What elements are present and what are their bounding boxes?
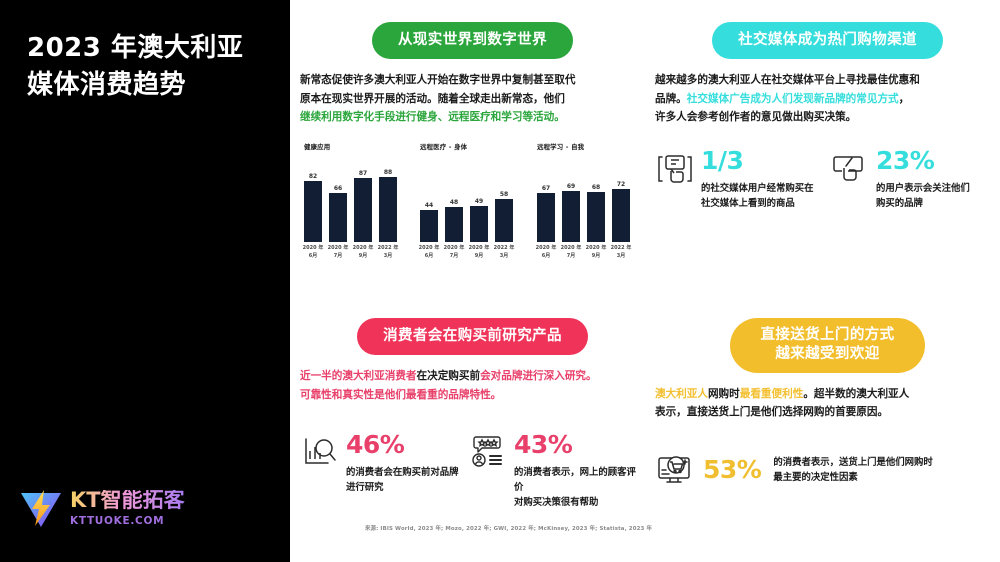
chart-bars: 82668788 bbox=[304, 154, 408, 242]
stat-value: 43% bbox=[514, 432, 638, 457]
stat-caption-line2: 最主要的决定性因素 bbox=[773, 472, 857, 483]
chart-group-telelearning: 远程学习 - 自我 67696872 2020 年6月2020 年7月2020 … bbox=[537, 142, 641, 264]
bar bbox=[420, 210, 438, 243]
chart-ticks: 2020 年6月2020 年7月2020 年9月2022 年3月 bbox=[304, 245, 408, 267]
section-research: 消费者会在购买前研究产品 近一半的澳大利亚消费者在决定购买前会对品牌进行深入研究… bbox=[300, 318, 645, 511]
infographic-page: 2023 年澳大利亚媒体消费趋势 bbox=[0, 0, 1000, 562]
research-body-tail: 会对品牌进行深入研究。 bbox=[480, 370, 597, 382]
chart-group-telehealth: 远程医疗 - 身体 44484958 2020 年6月2020 年7月2020 … bbox=[420, 142, 524, 264]
bar bbox=[304, 181, 322, 242]
delivery-body-highlight-b: 最看重便利性 bbox=[740, 388, 804, 400]
click-card-icon bbox=[830, 149, 870, 189]
delivery-stats: 53% 的消费者表示，送货上门是他们网购时 最主要的决定性因素 bbox=[655, 449, 1000, 490]
research-body-line2: 可靠性和真实性是他们最看重的品牌特性。 bbox=[300, 389, 501, 401]
stat-delivery-1: 53% 的消费者表示，送货上门是他们网购时 最主要的决定性因素 bbox=[655, 449, 941, 490]
pill-digital: 从现实世界到数字世界 bbox=[372, 22, 573, 59]
chart-magnifier-icon bbox=[300, 433, 340, 473]
stat-caption: 的用户表示会关注他们 购买的品牌 bbox=[876, 181, 970, 211]
stat-value: 46% bbox=[346, 432, 459, 457]
brand-logo: KT智能拓客 KTTUOKE.COM bbox=[18, 487, 185, 529]
bar-column: 66 bbox=[329, 185, 347, 242]
bar bbox=[612, 189, 630, 242]
pill-delivery-line1: 直接送货上门的方式 bbox=[760, 327, 894, 343]
x-axis-tick: 2020 年6月 bbox=[534, 245, 558, 261]
bar-value-label: 48 bbox=[445, 199, 463, 206]
stat-caption-line2: 社交媒体上看到的商品 bbox=[701, 198, 795, 209]
social-body-line1: 越来越多的澳大利亚人在社交媒体平台上寻找最佳优惠和 bbox=[655, 74, 920, 86]
section-delivery: 直接送货上门的方式 越来越受到欢迎 澳大利亚人网购时最看重便利性。超半数的澳大利… bbox=[655, 318, 1000, 490]
bar bbox=[470, 206, 488, 242]
delivery-body-tail: 。超半数的澳大利亚人 bbox=[803, 388, 909, 400]
bar-value-label: 66 bbox=[329, 185, 347, 192]
bar-value-label: 72 bbox=[612, 181, 630, 188]
pill-research: 消费者会在购买前研究产品 bbox=[357, 318, 588, 355]
bar-column: 44 bbox=[420, 202, 438, 243]
mobile-tap-icon bbox=[655, 149, 695, 189]
bar-value-label: 49 bbox=[470, 198, 488, 205]
monitor-cart-icon bbox=[655, 450, 695, 490]
delivery-body: 澳大利亚人网购时最看重便利性。超半数的澳大利亚人 表示，直接送货上门是他们选择网… bbox=[655, 385, 1000, 421]
stat-caption-line2: 进行研究 bbox=[346, 482, 384, 493]
x-axis-tick: 2020 年7月 bbox=[326, 245, 350, 261]
chart-bars: 67696872 bbox=[537, 154, 641, 242]
x-axis-tick: 2022 年3月 bbox=[609, 245, 633, 261]
chart-group-title: 远程医疗 - 身体 bbox=[420, 142, 524, 151]
bar bbox=[354, 178, 372, 242]
section-digital: 从现实世界到数字世界 新常态促使许多澳大利亚人开始在数字世界中复制甚至取代 原本… bbox=[300, 22, 645, 264]
bar-column: 48 bbox=[445, 199, 463, 243]
social-body: 越来越多的澳大利亚人在社交媒体平台上寻找最佳优惠和 品牌。社交媒体广告成为人们发… bbox=[655, 71, 1000, 126]
research-body-lead: 近一半的澳大利亚消费者 bbox=[300, 370, 417, 382]
stat-social-2: 23% 的用户表示会关注他们 购买的品牌 bbox=[830, 148, 995, 211]
bar bbox=[537, 193, 555, 243]
digital-body-line3: 继续利用数字化手段进行健身、远程医疗和学习等活动。 bbox=[300, 111, 565, 123]
bar-value-label: 82 bbox=[304, 173, 322, 180]
bar-value-label: 87 bbox=[354, 170, 372, 177]
bar-value-label: 88 bbox=[379, 169, 397, 176]
digital-body: 新常态促使许多澳大利亚人开始在数字世界中复制甚至取代 原本在现实世界开展的活动。… bbox=[300, 71, 645, 126]
bar bbox=[379, 177, 397, 242]
pill-delivery-line2: 越来越受到欢迎 bbox=[775, 346, 879, 362]
bar-column: 49 bbox=[470, 198, 488, 242]
chart-ticks: 2020 年6月2020 年7月2020 年9月2022 年3月 bbox=[537, 245, 641, 267]
bar-column: 72 bbox=[612, 181, 630, 242]
stat-caption-line1: 的消费者表示，网上的顾客评价 bbox=[514, 467, 636, 493]
stat-caption: 的消费者表示，送货上门是他们网购时 最主要的决定性因素 bbox=[773, 455, 941, 485]
x-axis-tick: 2020 年9月 bbox=[351, 245, 375, 261]
section-social: 社交媒体成为热门购物渠道 越来越多的澳大利亚人在社交媒体平台上寻找最佳优惠和 品… bbox=[655, 22, 1000, 212]
bar-column: 82 bbox=[304, 173, 322, 242]
stat-caption-line1: 的消费者会在购买前对品牌 bbox=[346, 467, 459, 478]
stat-research-1: 46% 的消费者会在购买前对品牌 进行研究 bbox=[300, 432, 468, 511]
x-axis-tick: 2020 年7月 bbox=[559, 245, 583, 261]
research-body: 近一半的澳大利亚消费者在决定购买前会对品牌进行深入研究。 可靠性和真实性是他们最… bbox=[300, 367, 645, 403]
social-body-line2-lead: 品牌。 bbox=[655, 93, 687, 105]
source-citation: 来源: IBIS World, 2023 年; Mozo, 2022 年; GW… bbox=[365, 524, 710, 532]
bar-column: 58 bbox=[495, 191, 513, 242]
stat-caption: 的消费者会在购买前对品牌 进行研究 bbox=[346, 465, 459, 495]
content-area: 从现实世界到数字世界 新常态促使许多澳大利亚人开始在数字世界中复制甚至取代 原本… bbox=[290, 0, 1000, 562]
review-stars-icon bbox=[468, 433, 508, 473]
bar bbox=[562, 191, 580, 242]
stat-caption: 的社交媒体用户经常购买在 社交媒体上看到的商品 bbox=[701, 181, 814, 211]
chart-group-health: 健康应用 82668788 2020 年6月2020 年7月2020 年9月20… bbox=[304, 142, 408, 264]
social-body-line2-highlight: 社交媒体广告成为人们发现新品牌的常见方式 bbox=[687, 93, 899, 105]
bar bbox=[445, 207, 463, 243]
delivery-body-line2: 表示，直接送货上门是他们选择网购的首要原因。 bbox=[655, 406, 888, 418]
chart-group-title: 健康应用 bbox=[304, 142, 408, 151]
digital-body-line1: 新常态促使许多澳大利亚人开始在数字世界中复制甚至取代 bbox=[300, 74, 575, 86]
logo-url: KTTUOKE.COM bbox=[70, 515, 185, 527]
digital-body-line2: 原本在现实世界开展的活动。随着全球走出新常态，他们 bbox=[300, 93, 565, 105]
bar-column: 88 bbox=[379, 169, 397, 242]
bar-value-label: 69 bbox=[562, 183, 580, 190]
research-body-strong: 在决定购买前 bbox=[417, 370, 481, 382]
x-axis-tick: 2020 年9月 bbox=[584, 245, 608, 261]
bar-column: 67 bbox=[537, 185, 555, 243]
delivery-body-highlight-a: 澳大利亚人 bbox=[655, 388, 708, 400]
bar-column: 87 bbox=[354, 170, 372, 242]
chart-bars: 44484958 bbox=[420, 154, 524, 242]
research-stats: 46% 的消费者会在购买前对品牌 进行研究 bbox=[300, 432, 645, 511]
bar-value-label: 58 bbox=[495, 191, 513, 198]
page-title: 2023 年澳大利亚媒体消费趋势 bbox=[27, 30, 267, 104]
bar-value-label: 44 bbox=[420, 202, 438, 209]
stat-social-1: 1/3 的社交媒体用户经常购买在 社交媒体上看到的商品 bbox=[655, 148, 830, 211]
x-axis-tick: 2020 年7月 bbox=[442, 245, 466, 261]
bar-column: 68 bbox=[587, 184, 605, 242]
stat-value: 53% bbox=[703, 457, 761, 482]
stat-caption: 的消费者表示，网上的顾客评价 对购买决策很有帮助 bbox=[514, 465, 638, 511]
social-body-line2-tail: ， bbox=[899, 93, 910, 105]
stat-caption-line1: 的用户表示会关注他们 bbox=[876, 183, 970, 194]
x-axis-tick: 2020 年6月 bbox=[417, 245, 441, 261]
pill-social: 社交媒体成为热门购物渠道 bbox=[712, 22, 943, 59]
pill-delivery: 直接送货上门的方式 越来越受到欢迎 bbox=[730, 318, 924, 373]
social-body-line3: 许多人会参考创作者的意见做出购买决策。 bbox=[655, 111, 856, 123]
left-title-panel: 2023 年澳大利亚媒体消费趋势 bbox=[0, 0, 290, 562]
logo-name: KT智能拓客 bbox=[70, 490, 185, 511]
stat-value: 23% bbox=[876, 148, 970, 173]
media-usage-bar-chart: 健康应用 82668788 2020 年6月2020 年7月2020 年9月20… bbox=[300, 142, 645, 264]
stat-caption-line2: 购买的品牌 bbox=[876, 198, 923, 209]
stat-caption-line1: 的社交媒体用户经常购买在 bbox=[701, 183, 814, 194]
x-axis-tick: 2022 年3月 bbox=[376, 245, 400, 261]
social-stats: 1/3 的社交媒体用户经常购买在 社交媒体上看到的商品 bbox=[655, 148, 1000, 211]
x-axis-tick: 2022 年3月 bbox=[492, 245, 516, 261]
bar-value-label: 68 bbox=[587, 184, 605, 191]
stat-caption-line1: 的消费者表示，送货上门是他们网购时 bbox=[773, 457, 932, 468]
stat-caption-line2: 对购买决策很有帮助 bbox=[514, 497, 598, 508]
delivery-body-mid: 网购时 bbox=[708, 388, 740, 400]
bar bbox=[587, 192, 605, 242]
bar-value-label: 67 bbox=[537, 185, 555, 192]
bar bbox=[495, 199, 513, 242]
x-axis-tick: 2020 年9月 bbox=[467, 245, 491, 261]
chart-ticks: 2020 年6月2020 年7月2020 年9月2022 年3月 bbox=[420, 245, 524, 267]
bar bbox=[329, 193, 347, 242]
bar-column: 69 bbox=[562, 183, 580, 242]
stat-value: 1/3 bbox=[701, 148, 814, 173]
logo-bolt-icon bbox=[18, 487, 64, 529]
x-axis-tick: 2020 年6月 bbox=[301, 245, 325, 261]
chart-group-title: 远程学习 - 自我 bbox=[537, 142, 641, 151]
stat-research-2: 43% 的消费者表示，网上的顾客评价 对购买决策很有帮助 bbox=[468, 432, 638, 511]
